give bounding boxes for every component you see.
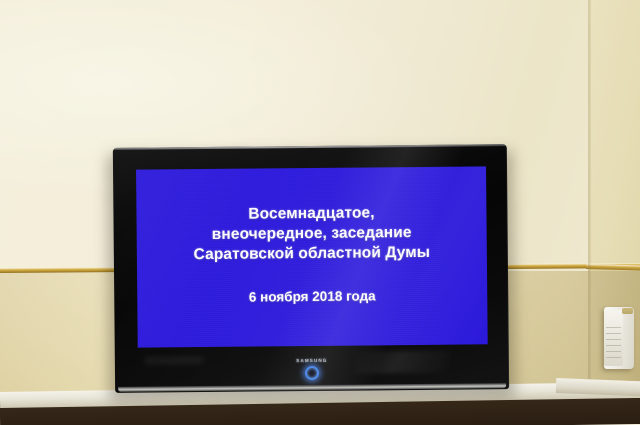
wall-corner-edge	[588, 0, 591, 396]
slide-title-line-2: внеочередное, заседание	[212, 223, 412, 245]
television[interactable]: Восемнадцатое, внеочередное, заседание С…	[113, 144, 509, 396]
television-bezel: Восемнадцатое, внеочередное, заседание С…	[113, 144, 509, 393]
power-led-ring-icon[interactable]	[305, 366, 319, 380]
wall-mounted-unit	[604, 307, 634, 369]
television-screen[interactable]: Восемнадцатое, внеочередное, заседание С…	[136, 166, 488, 347]
wall-mounted-unit-face	[604, 310, 623, 366]
slide-title-line-3: Саратовской областной Думы	[193, 243, 430, 265]
slide-title-line-1: Восемнадцатое,	[248, 203, 375, 224]
wall-mounted-unit-vents	[606, 322, 621, 360]
presentation-slide: Восемнадцатое, внеочередное, заседание С…	[136, 166, 488, 347]
upper-wall-right-face	[588, 0, 640, 272]
slide-date: 6 ноября 2018 года	[249, 289, 376, 305]
samsung-brand-logo: SAMSUNG	[296, 358, 327, 363]
room-scene: Восемнадцатое, внеочередное, заседание С…	[0, 0, 640, 425]
wall-mounted-unit-top-bracket	[622, 308, 633, 314]
